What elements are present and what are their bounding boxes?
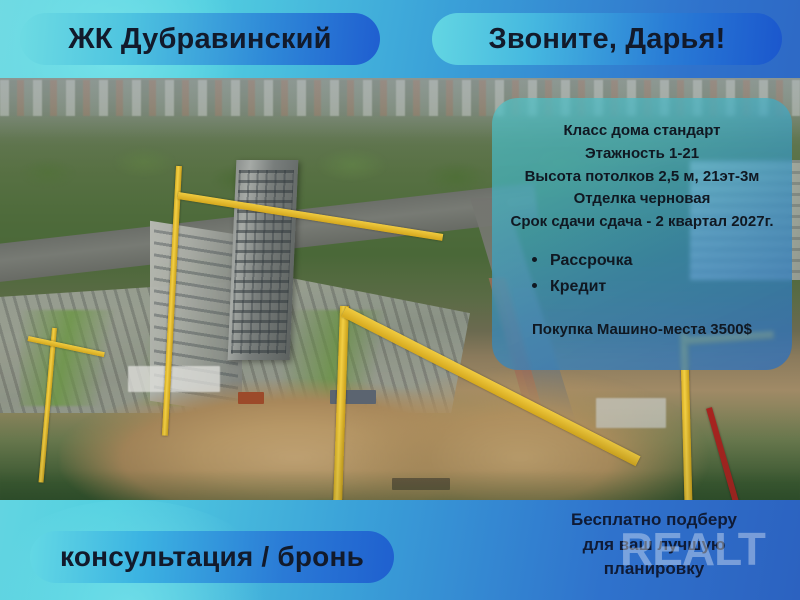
spec-ceiling-height: Высота потолков 2,5 м, 21эт-3м [502, 166, 782, 189]
crane-mast [332, 306, 349, 500]
agent-tagline: Бесплатно подберу для ваш лучшую планиро… [524, 508, 784, 582]
consultation-booking-pill[interactable]: консультация / бронь [30, 531, 394, 583]
crane-mast [39, 328, 57, 483]
project-title-pill[interactable]: ЖК Дубравинский [20, 13, 380, 65]
list-item: Кредит [532, 274, 782, 300]
tower-crane-far-left [18, 328, 108, 488]
list-item: Рассрочка [532, 248, 782, 274]
spec-floors: Этажность 1-21 [502, 143, 782, 166]
tagline-line-1: Бесплатно подберу [524, 508, 784, 533]
parking-price-note: Покупка Машино-места 3500$ [502, 321, 782, 338]
spec-completion-date: Срок сдачи сдача - 2 квартал 2027г. [502, 211, 782, 234]
property-specs: Класс дома стандарт Этажность 1-21 Высот… [502, 120, 782, 234]
tagline-line-3: планировку [524, 557, 784, 582]
crane-jib [27, 336, 104, 357]
payment-options-list: Рассрочка Кредит [532, 248, 782, 299]
promo-banner: ЖК Дубравинский Звоните, Дарья! Класс до… [0, 0, 800, 600]
pump-boom-lower [706, 407, 745, 500]
property-info-panel: Класс дома стандарт Этажность 1-21 Высот… [492, 98, 792, 370]
tagline-line-2: для ваш лучшую [524, 533, 784, 558]
spec-finishing: Отделка черновая [502, 188, 782, 211]
call-agent-pill[interactable]: Звоните, Дарья! [432, 13, 782, 65]
spec-house-class: Класс дома стандарт [502, 120, 782, 143]
concrete-pump-boom [700, 408, 786, 500]
crane-jib [177, 192, 443, 241]
